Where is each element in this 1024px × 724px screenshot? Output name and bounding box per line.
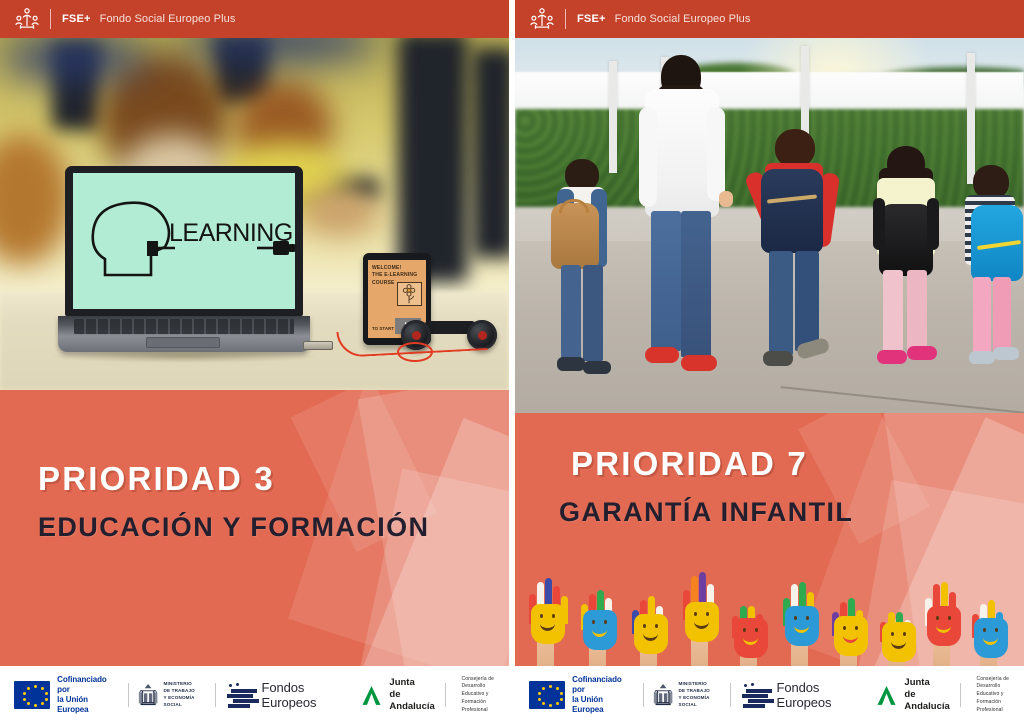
junta-text: Junta de Andalucía: [904, 677, 952, 713]
eu-flag-icon: [14, 681, 50, 709]
consejeria-text: Consejería de Desarrollo Educativo y For…: [977, 676, 1024, 715]
ministerio-line-3: Y ECONOMÍA SOCIAL: [679, 695, 722, 709]
flower-drawing-icon: [397, 282, 422, 306]
page-subtitle-priority-7: GARANTÍA INFANTIL: [559, 497, 1024, 528]
usb-dongle: [303, 341, 333, 350]
fse-abbreviation: FSE+: [577, 13, 606, 25]
ministerio-line-3: Y ECONOMÍA SOCIAL: [164, 695, 207, 709]
page-subtitle-priority-3: EDUCACIÓN Y FORMACIÓN: [38, 512, 509, 543]
ministerio-line-1: MINISTERIO: [679, 681, 722, 688]
panel-prioridad-3: FSE+ Fondo Social Europeo Plus: [0, 0, 509, 724]
street-background: [515, 38, 1024, 413]
consejeria-line-3: Profesional: [977, 707, 1024, 715]
eu-cofinance-text: Cofinanciado por la Unión Europea: [572, 675, 627, 716]
footer-left: Cofinanciado por la Unión Europea: [0, 666, 509, 724]
fse-full-name: Fondo Social Europeo Plus: [100, 13, 236, 25]
fse-full-name: Fondo Social Europeo Plus: [615, 13, 751, 25]
junta-line-1: Junta: [904, 677, 952, 689]
eu-logo-block: Cofinanciado por la Unión Europea: [14, 675, 112, 716]
consejeria-line-2: Educativo y Formación: [977, 691, 1024, 707]
fse-header-bar-left: FSE+ Fondo Social Europeo Plus: [0, 0, 509, 38]
laptop-icon: LEARNING: [58, 166, 310, 352]
junta-andalucia-arch-icon: [360, 681, 383, 709]
consejeria-line-1: Consejería de Desarrollo: [462, 676, 509, 692]
consejeria-line-2: Educativo y Formación: [462, 691, 509, 707]
eu-text-line-1: Cofinanciado por: [572, 675, 627, 695]
fondos-europeos-label: Fondos Europeos: [262, 680, 347, 710]
classroom-elearning-photo: LEARNING WELCOME! THE E-LEARNING COURSE: [0, 38, 509, 390]
titles-left: PRIORIDAD 3 EDUCACIÓN Y FORMACIÓN: [0, 390, 509, 543]
ministerio-line-1: MINISTERIO: [164, 681, 207, 688]
eu-text-line-1: Cofinanciado por: [57, 675, 112, 695]
people-group-icon: [529, 7, 555, 31]
child-blue-backpack: [957, 165, 1024, 391]
laptop-trackpad: [146, 337, 220, 348]
junta-text: Junta de Andalucía: [389, 677, 437, 713]
child-tan-backpack: [549, 159, 619, 391]
eu-logo-block: Cofinanciado por la Unión Europea: [529, 675, 627, 716]
laptop-screen-word: LEARNING: [169, 219, 293, 248]
consejeria-text: Consejería de Desarrollo Educativo y For…: [462, 676, 509, 715]
ministerio-line-2: DE TRABAJO: [679, 688, 722, 695]
adult-woman: [633, 55, 731, 387]
fondos-europeos-logo-block: Fondos Europeos: [740, 680, 862, 710]
eu-cofinance-text: Cofinanciado por la Unión Europea: [57, 675, 112, 716]
child-black-backpack: [865, 146, 949, 394]
consejeria-line-1: Consejería de Desarrollo: [977, 676, 1024, 692]
junta-andalucia-logo-block: Junta de Andalucía Consejería de Desarro…: [360, 676, 509, 715]
ministerio-logo-block: MINISTERIO DE TRABAJO Y ECONOMÍA SOCIAL: [138, 680, 206, 710]
fondos-europeos-icon: [740, 683, 769, 707]
ministerio-text: MINISTERIO DE TRABAJO Y ECONOMÍA SOCIAL: [679, 681, 722, 709]
fondos-europeos-label: Fondos Europeos: [777, 680, 862, 710]
junta-line-1: Junta: [389, 677, 437, 689]
tablet-line-1: WELCOME!: [372, 265, 422, 272]
spain-coat-of-arms-icon: [138, 680, 158, 710]
spain-coat-of-arms-icon: [653, 680, 673, 710]
painted-children-hands-smileys: [515, 562, 1024, 666]
junta-andalucia-arch-icon: [875, 681, 898, 709]
fondos-europeos-logo-block: Fondos Europeos: [225, 680, 347, 710]
fse-abbreviation: FSE+: [62, 13, 91, 25]
page-title-priority-7: PRIORIDAD 7: [559, 445, 1024, 483]
classroom-background: LEARNING WELCOME! THE E-LEARNING COURSE: [0, 38, 509, 390]
eu-text-line-2: la Unión Europea: [57, 695, 112, 715]
eu-flag-icon: [529, 681, 565, 709]
page-title-priority-3: PRIORIDAD 3: [38, 460, 509, 498]
ministerio-logo-block: MINISTERIO DE TRABAJO Y ECONOMÍA SOCIAL: [653, 680, 721, 710]
poster-canvas: FSE+ Fondo Social Europeo Plus: [0, 0, 1024, 724]
fondos-europeos-icon: [225, 683, 254, 707]
junta-andalucia-logo-block: Junta de Andalucía Consejería de Desarro…: [875, 676, 1024, 715]
laptop-keyboard: [74, 319, 294, 334]
junta-line-2: de Andalucía: [904, 689, 952, 713]
title-block-right: PRIORIDAD 7 GARANTÍA INFANTIL: [515, 413, 1024, 666]
footer-right: Cofinanciado por la Unión Europea: [515, 666, 1024, 724]
ministerio-line-2: DE TRABAJO: [164, 688, 207, 695]
laptop-screen: LEARNING: [73, 173, 295, 309]
consejeria-line-3: Profesional: [462, 707, 509, 715]
header-divider: [565, 9, 566, 29]
panel-prioridad-7: FSE+ Fondo Social Europeo Plus: [515, 0, 1024, 724]
headphones-icon: [399, 308, 499, 354]
child-navy-backpack: [753, 129, 839, 391]
mother-and-children-walking-to-school-photo: [515, 38, 1024, 413]
title-block-left: PRIORIDAD 3 EDUCACIÓN Y FORMACIÓN: [0, 390, 509, 666]
people-group-icon: [14, 7, 40, 31]
tablet-line-2: THE E-LEARNING: [372, 272, 422, 279]
header-divider: [50, 9, 51, 29]
junta-line-2: de Andalucía: [389, 689, 437, 713]
eu-text-line-2: la Unión Europea: [572, 695, 627, 715]
titles-right: PRIORIDAD 7 GARANTÍA INFANTIL: [515, 413, 1024, 528]
ministerio-text: MINISTERIO DE TRABAJO Y ECONOMÍA SOCIAL: [164, 681, 207, 709]
fse-header-bar-right: FSE+ Fondo Social Europeo Plus: [515, 0, 1024, 38]
